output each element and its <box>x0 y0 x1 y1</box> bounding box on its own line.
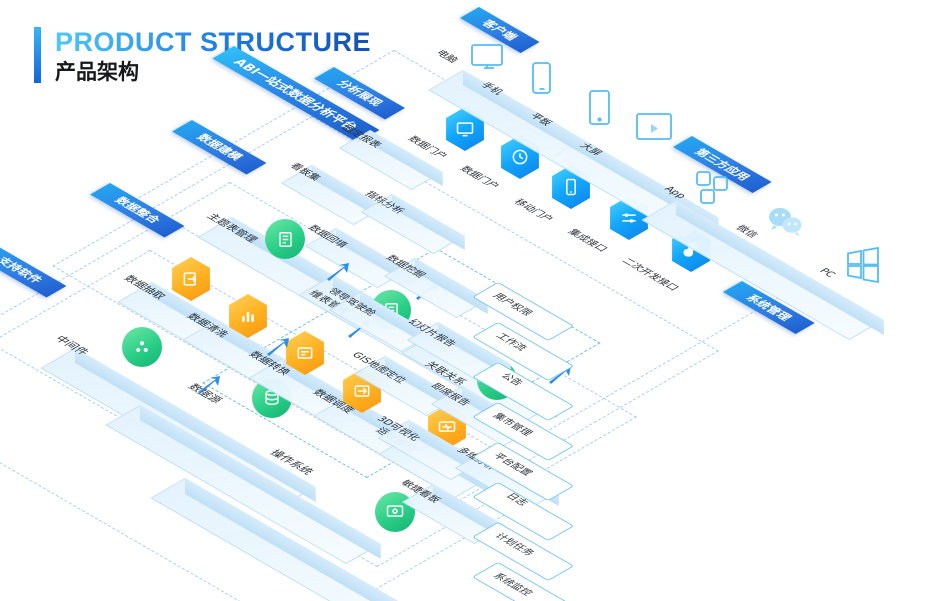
flow-arrow-analysis-2 <box>325 261 351 283</box>
phone-icon <box>529 60 555 98</box>
title-accent-bar <box>34 27 41 83</box>
title-english: PRODUCT STRUCTURE <box>55 27 371 57</box>
desktop-icon <box>469 42 509 76</box>
middleware-green-icon <box>122 327 162 367</box>
tablet-icon <box>586 88 614 128</box>
label-third-party-pc: PC <box>816 267 837 279</box>
table-green-icon-subject <box>265 219 305 259</box>
label-client-desktop: 电脑 <box>433 47 463 65</box>
windows-icon <box>844 245 882 283</box>
ribbon-support-software: 支持软件 <box>0 243 66 298</box>
product-structure-diagram: PRODUCT STRUCTURE 产品架构 操作系统 支持软件 中间件 <box>0 0 935 601</box>
flow-arrow-integration-1 <box>265 336 291 358</box>
flow-arrow-integration-2 <box>196 374 222 396</box>
wechat-icon <box>766 205 806 239</box>
app-blocks-icon <box>693 168 733 208</box>
large-screen-icon <box>634 110 676 146</box>
